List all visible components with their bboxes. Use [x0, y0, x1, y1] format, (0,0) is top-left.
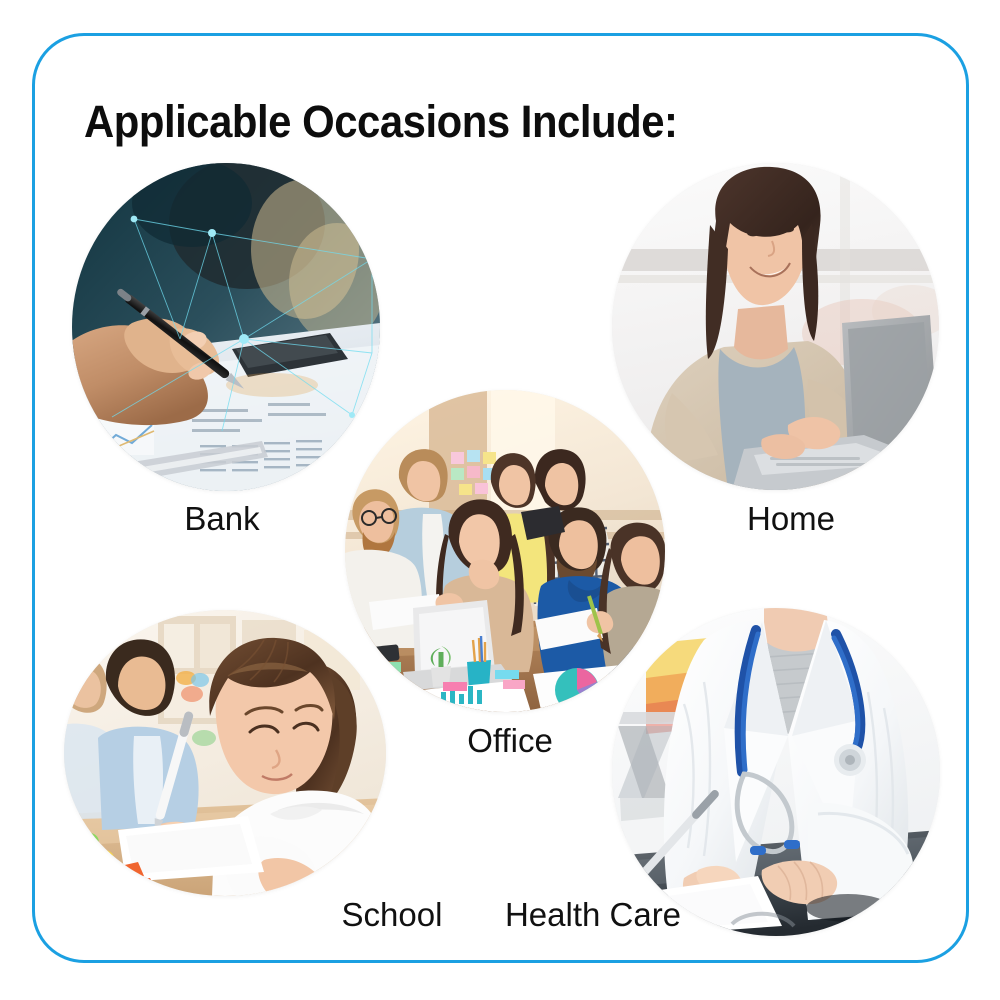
- health-photo: [612, 608, 940, 936]
- bank-caption: Bank: [122, 500, 322, 538]
- poster-canvas: Applicable Occasions Include:: [0, 0, 1000, 1000]
- office-caption: Office: [410, 722, 610, 760]
- school-caption: School: [292, 896, 492, 934]
- bank-photo: [72, 163, 380, 491]
- health-caption: Health Care: [473, 896, 713, 934]
- school-photo: [64, 610, 386, 896]
- office-photo: [345, 390, 665, 712]
- home-caption: Home: [691, 500, 891, 538]
- page-title: Applicable Occasions Include:: [84, 96, 678, 148]
- home-photo: [612, 163, 939, 490]
